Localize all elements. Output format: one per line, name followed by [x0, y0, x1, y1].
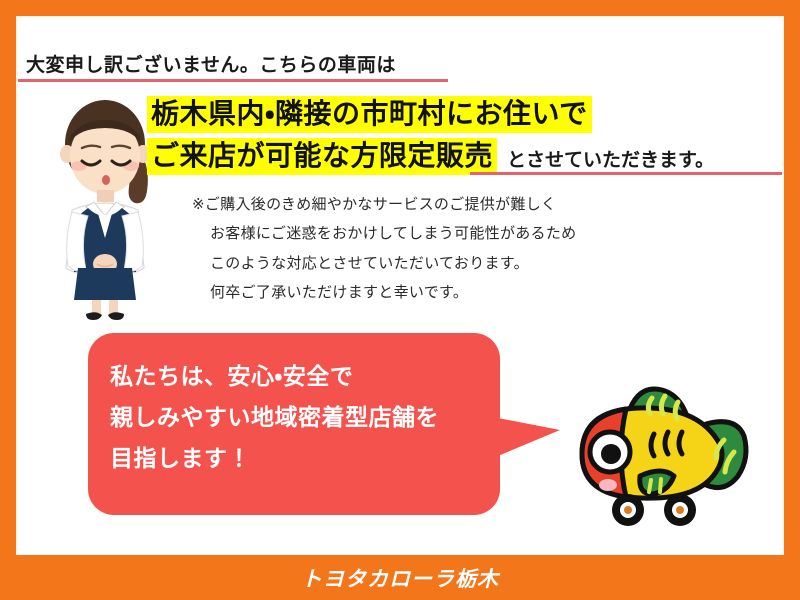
poster-root: 大変申し訳ございません。こちらの車両は — [0, 0, 800, 600]
dealer-logo-text: トヨタカローラ栃木 — [301, 563, 499, 593]
fish-mascot-on-wheels — [566, 372, 756, 532]
slogan-line-2: 親しみやすい地域密着型店舗を — [110, 398, 490, 439]
headline-highlight-line-2: ご来店が可能な方限定販売 — [147, 138, 497, 175]
slogan-text: 私たちは、安心・安全で 親しみやすい地域密着型店舗を 目指します！ — [110, 357, 490, 480]
slogan-line-1: 私たちは、安心・安全で — [110, 357, 490, 398]
headline-underline-rule — [470, 172, 782, 175]
header-underline-rule — [18, 79, 448, 82]
headline-row-2: ご来店が可能な方限定販売 とさせていただきます。 — [147, 138, 787, 175]
footer-bar: トヨタカローラ栃木 — [0, 555, 800, 600]
headline-trailing-text: とさせていただきます。 — [497, 145, 714, 175]
headline-highlight-line-1: 栃木県内・隣接の市町村にお住いで — [147, 96, 592, 133]
note-line-4: 何卒ご了承いただけますと幸いです。 — [192, 278, 576, 307]
note-block: ※ご購入後のきめ細やかなサービスのご提供が難しく お客様にご迷惑をおかけしてしま… — [192, 190, 576, 307]
note-line-2: お客様にご迷惑をおかけしてしまう可能性があるため — [192, 219, 576, 248]
headline-block: 栃木県内・隣接の市町村にお住いで ご来店が可能な方限定販売 とさせていただきます… — [147, 96, 787, 180]
speech-bubble-tail — [498, 418, 560, 456]
note-line-1: ※ご購入後のきめ細やかなサービスのご提供が難しく — [192, 190, 576, 219]
slogan-line-3: 目指します！ — [110, 439, 490, 480]
apology-header-text: 大変申し訳ございません。こちらの車両は — [26, 50, 396, 77]
note-line-3: このような対応とさせていただいております。 — [192, 249, 576, 278]
headline-row-1: 栃木県内・隣接の市町村にお住いで — [147, 96, 787, 133]
